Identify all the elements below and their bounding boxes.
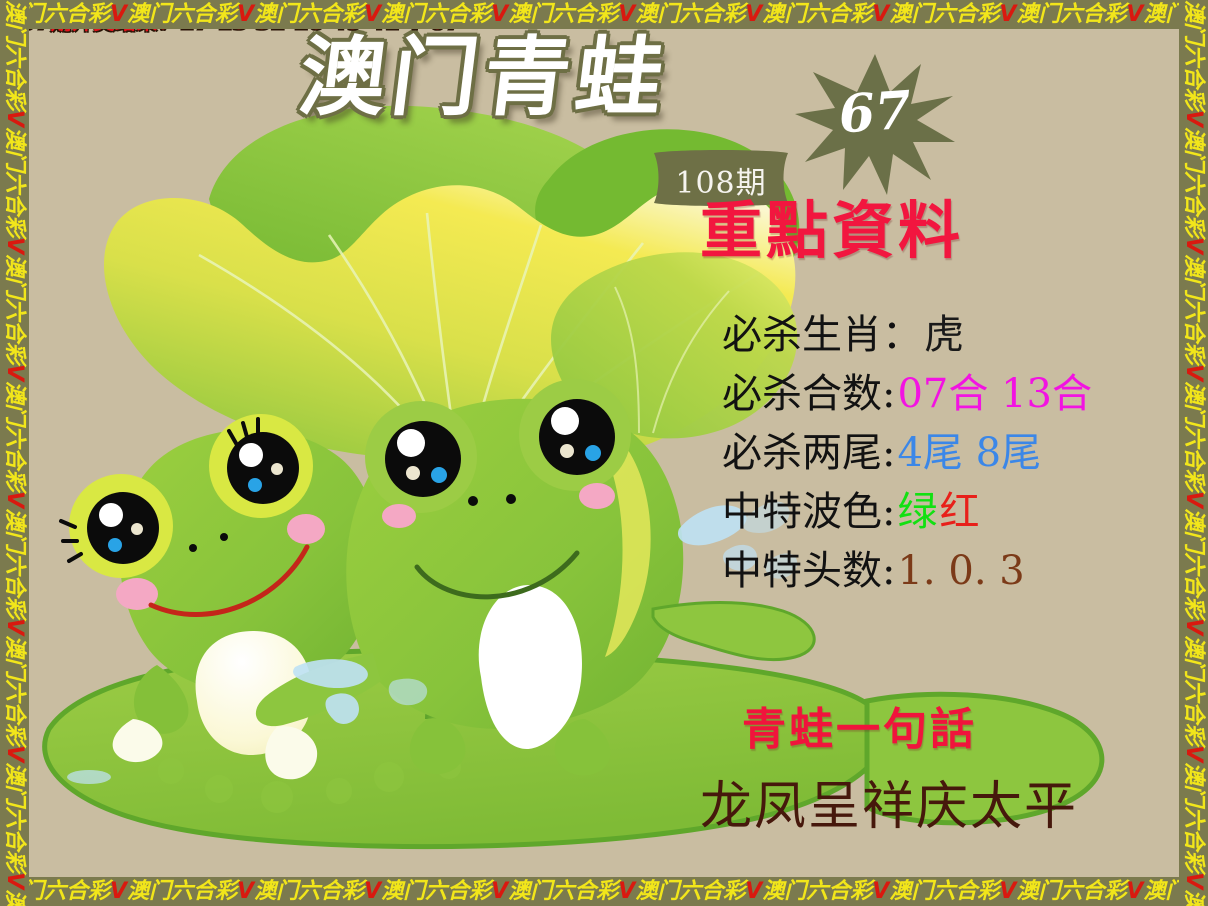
info-label: 中特波色:: [722, 489, 895, 535]
slogan-heading: 青蛙一句話: [742, 693, 977, 757]
info-value-green: 绿: [897, 489, 937, 535]
info-label: 必杀两尾:: [722, 430, 895, 476]
border-top: 澳门六合彩V澳门六合彩V澳门六合彩V澳门六合彩V澳门六合彩V澳门六合彩V澳门六合…: [0, 0, 1208, 29]
info-value: 4尾 8尾: [897, 430, 1041, 476]
info-row: 必杀两尾:4尾 8尾: [722, 424, 1192, 483]
info-label: 必杀合数:: [722, 371, 895, 417]
border-band-text: 澳门六合彩V澳门六合彩V澳门六合彩V澳门六合彩V澳门六合彩V澳门六合彩V澳门六合…: [1179, 0, 1208, 906]
info-row: 中特波色:绿红: [722, 483, 1192, 542]
info-value: 1. 0. 3: [897, 548, 1024, 594]
info-list: 必杀生肖：虎 必杀合数:07合 13合 必杀两尾:4尾 8尾 中特波色:绿红 中…: [722, 306, 1192, 601]
info-row: 中特头数:1. 0. 3: [722, 542, 1192, 601]
info-label: 中特头数:: [722, 548, 895, 594]
section-headline: 重點資料: [700, 198, 964, 263]
border-band-text: 澳门六合彩V澳门六合彩V澳门六合彩V澳门六合彩V澳门六合彩V澳门六合彩V澳门六合…: [0, 0, 29, 906]
border-bottom: 澳门六合彩V澳门六合彩V澳门六合彩V澳门六合彩V澳门六合彩V澳门六合彩V澳门六合…: [0, 877, 1208, 906]
info-row: 必杀生肖：虎: [722, 306, 1192, 365]
info-label: 必杀生肖：: [722, 312, 922, 358]
info-value: 虎: [924, 312, 964, 358]
lottery-poster: 67 108期 澳门青蛙 重點資料 必杀生肖：虎 必杀合数:07合 13合 必杀…: [0, 0, 1208, 906]
border-left: 澳门六合彩V澳门六合彩V澳门六合彩V澳门六合彩V澳门六合彩V澳门六合彩V澳门六合…: [0, 0, 29, 906]
info-value-red: 红: [939, 489, 979, 535]
page-title: 澳门青蛙: [295, 35, 674, 121]
border-band-text: 澳门六合彩V澳门六合彩V澳门六合彩V澳门六合彩V澳门六合彩V澳门六合彩V澳门六合…: [0, 877, 1208, 906]
border-band-text: 澳门六合彩V澳门六合彩V澳门六合彩V澳门六合彩V澳门六合彩V澳门六合彩V澳门六合…: [0, 0, 1208, 29]
border-right: 澳门六合彩V澳门六合彩V澳门六合彩V澳门六合彩V澳门六合彩V澳门六合彩V澳门六合…: [1179, 0, 1208, 906]
info-value: 07合 13合: [897, 371, 1092, 417]
info-row: 必杀合数:07合 13合: [722, 365, 1192, 424]
burst-number: 67: [818, 78, 932, 147]
slogan-body: 龙凤呈祥庆太平: [700, 764, 1078, 839]
